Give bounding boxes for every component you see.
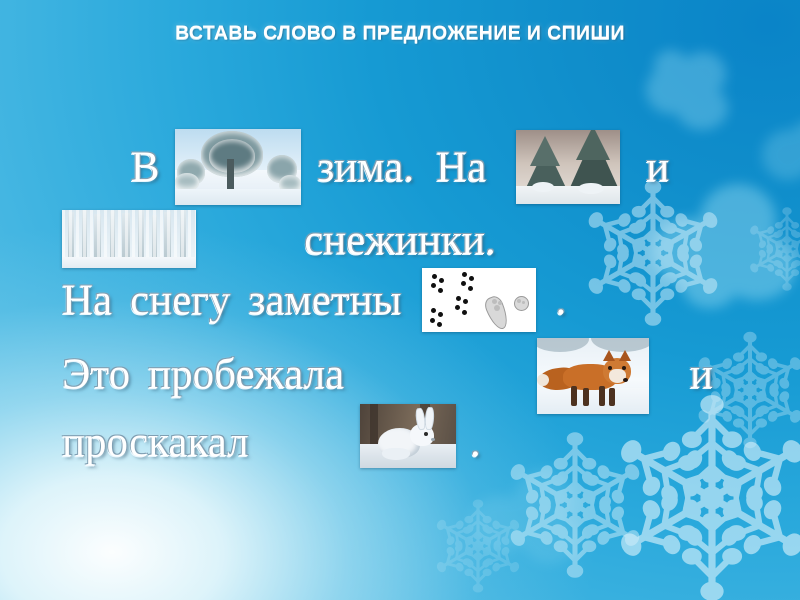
snowy-pine-forest-image (175, 129, 301, 205)
slide-title-bar: ВСТАВЬ СЛОВО В ПРЕДЛОЖЕНИЕ И СПИШИ (0, 22, 800, 45)
soft-snow-blob-icon (470, 468, 590, 568)
word-token: снегу (128, 279, 232, 322)
animal-tracks-image (422, 268, 536, 332)
word-token: снежинки. (302, 219, 498, 262)
snowflake-icon (430, 498, 526, 594)
sentence-line-5: проскакал . (0, 404, 800, 480)
word-token: В (129, 146, 162, 189)
word-token: и (688, 353, 715, 396)
word-token: На (434, 146, 488, 189)
word-token: заметны (246, 279, 403, 322)
word-token: и (644, 146, 671, 189)
snowy-fir-trees-image (516, 130, 620, 204)
fox-image (537, 338, 649, 414)
sentence-line-1: В зима. На (0, 124, 800, 210)
slide-canvas: ВСТАВЬ СЛОВО В ПРЕДЛОЖЕНИЕ И СПИШИ В зим… (0, 0, 800, 600)
hare-image (360, 404, 456, 468)
page-title: ВСТАВЬ СЛОВО В ПРЕДЛОЖЕНИЕ И СПИШИ (175, 22, 625, 45)
snowy-birch-forest-image (62, 210, 196, 268)
word-token: . (554, 279, 569, 322)
word-token: На (60, 279, 114, 322)
sentence-line-4: Это пробежала (0, 334, 800, 414)
sentence-line-3: На снегу заметны (0, 262, 800, 338)
word-token: зима. (315, 146, 416, 189)
word-token: пробежала (146, 353, 346, 396)
sentence-body: В зима. На (0, 112, 800, 482)
word-token: . (468, 421, 483, 464)
word-token: Это (60, 353, 132, 396)
word-token: проскакал (60, 421, 251, 464)
